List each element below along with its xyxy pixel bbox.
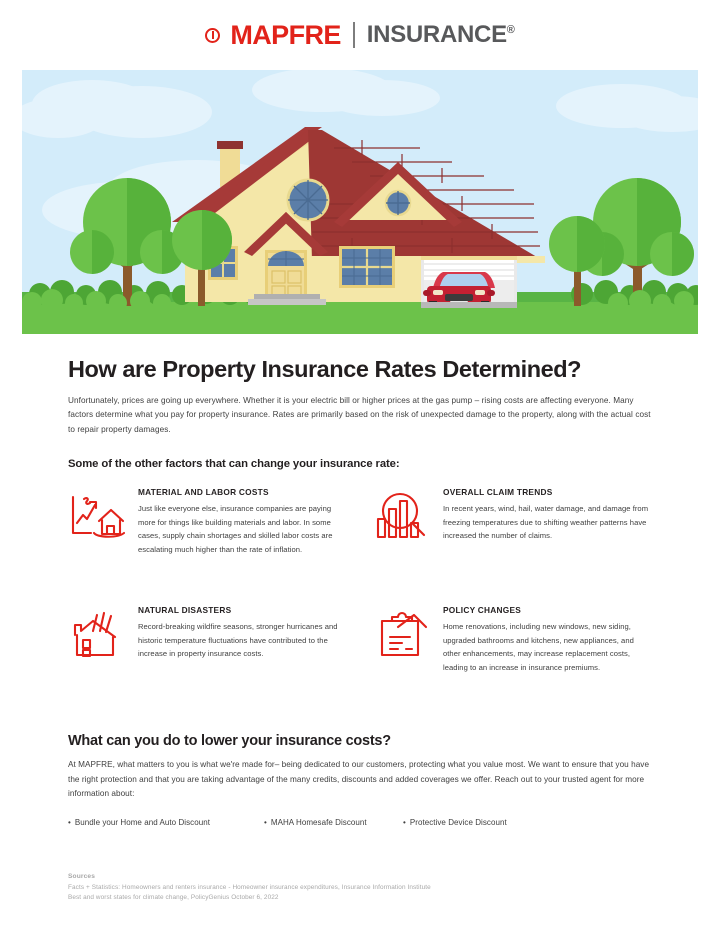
article-body: How are Property Insurance Rates Determi… <box>0 356 720 903</box>
factor-natural-disasters: NATURAL DISASTERS Record-breaking wildfi… <box>68 605 347 723</box>
factor-text: OVERALL CLAIM TRENDS In recent years, wi… <box>443 487 652 543</box>
mapfre-circle-mark-icon <box>205 28 220 43</box>
factor-material-and-labor-costs: MATERIAL AND LABOR COSTS Just like every… <box>68 487 347 605</box>
storm-damaged-house-icon <box>68 605 126 665</box>
factors-subtitle: Some of the other factors that can chang… <box>68 458 652 470</box>
factor-text: POLICY CHANGES Home renovations, includi… <box>443 605 652 674</box>
discount-label: Bundle your Home and Auto Discount <box>75 818 210 827</box>
hero-illustration <box>22 70 698 334</box>
lower-section-title: What can you do to lower your insurance … <box>68 733 652 749</box>
discount-item: • Bundle your Home and Auto Discount <box>68 818 264 827</box>
brand-product-label: INSURANCE <box>367 21 507 48</box>
factor-text: NATURAL DISASTERS Record-breaking wildfi… <box>138 605 347 661</box>
bullet-icon: • <box>403 819 406 827</box>
clipboard-house-policy-icon <box>373 605 431 665</box>
lower-section-body: At MAPFRE, what matters to you is what w… <box>68 758 652 802</box>
trademark-symbol: ® <box>507 24 515 36</box>
discounts-list: • Bundle your Home and Auto Discount • M… <box>68 818 652 827</box>
brand-product: INSURANCE® <box>367 21 515 49</box>
factor-heading: NATURAL DISASTERS <box>138 605 347 615</box>
sources-heading: Sources <box>68 873 652 880</box>
factor-heading: MATERIAL AND LABOR COSTS <box>138 487 347 497</box>
discount-item: • Protective Device Discount <box>403 818 507 827</box>
rising-cost-house-chart-icon <box>68 487 126 547</box>
factor-heading: OVERALL CLAIM TRENDS <box>443 487 652 497</box>
bullet-icon: • <box>68 819 71 827</box>
source-line: Facts + Statistics: Homeowners and rente… <box>68 883 652 893</box>
factor-description: Just like everyone else, insurance compa… <box>138 502 347 556</box>
brand-header: MAPFRE INSURANCE® <box>0 0 720 70</box>
mapfre-insurance-logo: MAPFRE INSURANCE® <box>205 20 514 51</box>
discount-item: • MAHA Homesafe Discount <box>264 818 403 827</box>
house-scene-svg <box>22 70 698 334</box>
logo-divider <box>353 22 355 48</box>
bullet-icon: • <box>264 819 267 827</box>
factor-overall-claim-trends: OVERALL CLAIM TRENDS In recent years, wi… <box>373 487 652 605</box>
factor-description: Record-breaking wildfire seasons, strong… <box>138 620 347 661</box>
sources-section: Sources Facts + Statistics: Homeowners a… <box>68 873 652 903</box>
factor-heading: POLICY CHANGES <box>443 605 652 615</box>
factor-text: MATERIAL AND LABOR COSTS Just like every… <box>138 487 347 556</box>
factor-description: Home renovations, including new windows,… <box>443 620 652 674</box>
discount-label: Protective Device Discount <box>410 818 507 827</box>
source-line: Best and worst states for climate change… <box>68 893 652 903</box>
page-title: How are Property Insurance Rates Determi… <box>68 356 652 383</box>
factor-policy-changes: POLICY CHANGES Home renovations, includi… <box>373 605 652 723</box>
intro-paragraph: Unfortunately, prices are going up every… <box>68 394 652 437</box>
discount-label: MAHA Homesafe Discount <box>271 818 367 827</box>
magnifier-bar-chart-icon <box>373 487 431 547</box>
factor-description: In recent years, wind, hail, water damag… <box>443 502 652 543</box>
document-page: MAPFRE INSURANCE® <box>0 0 720 931</box>
factors-grid: MATERIAL AND LABOR COSTS Just like every… <box>68 487 652 723</box>
brand-name: MAPFRE <box>230 20 340 51</box>
